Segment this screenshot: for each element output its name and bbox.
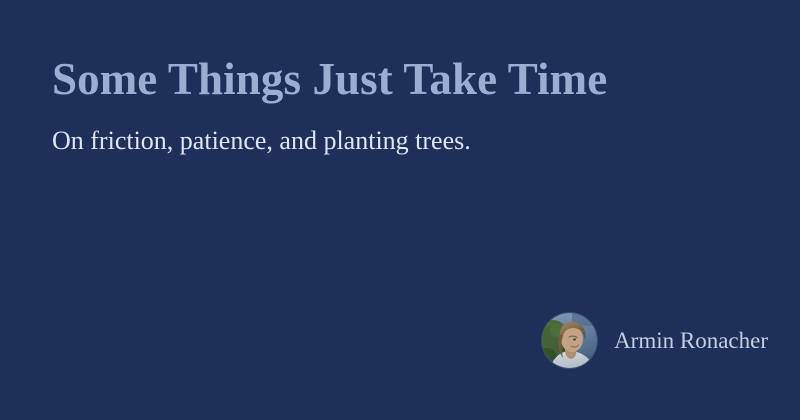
page-subtitle: On friction, patience, and planting tree… [52,106,760,158]
avatar [542,313,597,368]
avatar-photo-icon [542,313,597,368]
headline-block: Some Things Just Take Time On friction, … [52,52,760,158]
byline: Armin Ronacher [542,313,768,368]
author-name: Armin Ronacher [614,327,768,355]
social-share-card: Some Things Just Take Time On friction, … [0,0,800,420]
page-title: Some Things Just Take Time [52,52,760,106]
